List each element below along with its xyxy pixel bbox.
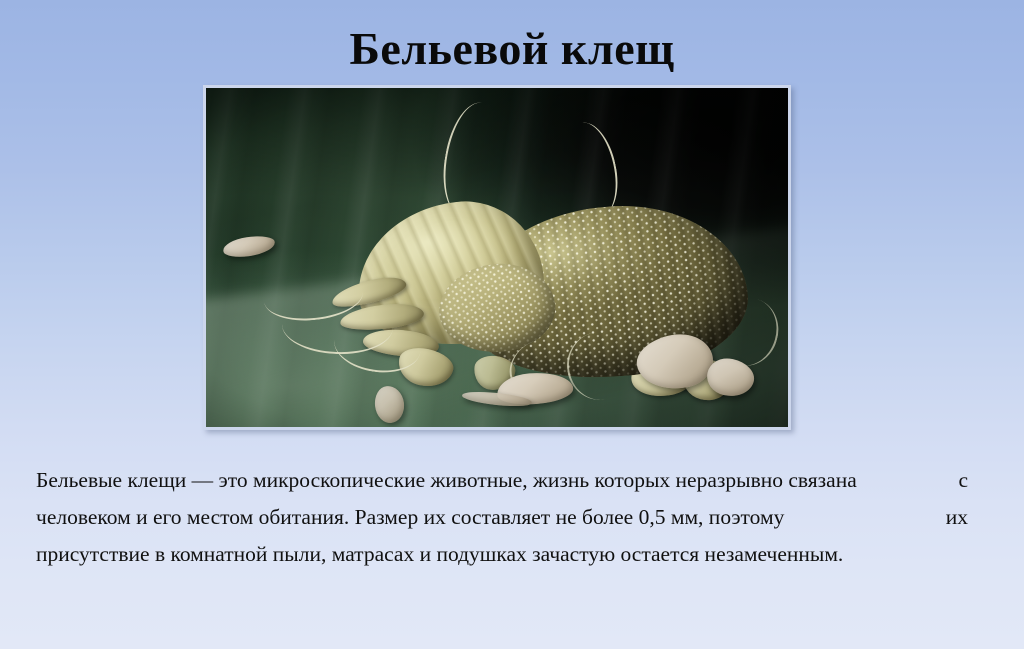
slide-body-text: Бельевые клещи — это микроскопические жи… xyxy=(36,462,968,573)
body-text-line-1-main: Бельевые клещи — это микроскопические жи… xyxy=(36,462,857,499)
body-text-line-2: человеком и его местом обитания. Размер … xyxy=(36,499,968,536)
slide-image-frame xyxy=(203,85,791,430)
dust-mite-sem-micrograph xyxy=(206,88,788,427)
body-text-line-1-tail: с xyxy=(958,462,968,499)
presentation-slide: Бельевой клещ xyxy=(0,0,1024,649)
body-text-line-2-tail: их xyxy=(946,499,968,536)
body-text-line-2-main: человеком и его местом обитания. Размер … xyxy=(36,499,784,536)
page-title: Бельевой клещ xyxy=(0,23,1024,75)
body-text-line-3: присутствие в комнатной пыли, матрасах и… xyxy=(36,536,968,573)
body-text-line-1: Бельевые клещи — это микроскопические жи… xyxy=(36,462,968,499)
